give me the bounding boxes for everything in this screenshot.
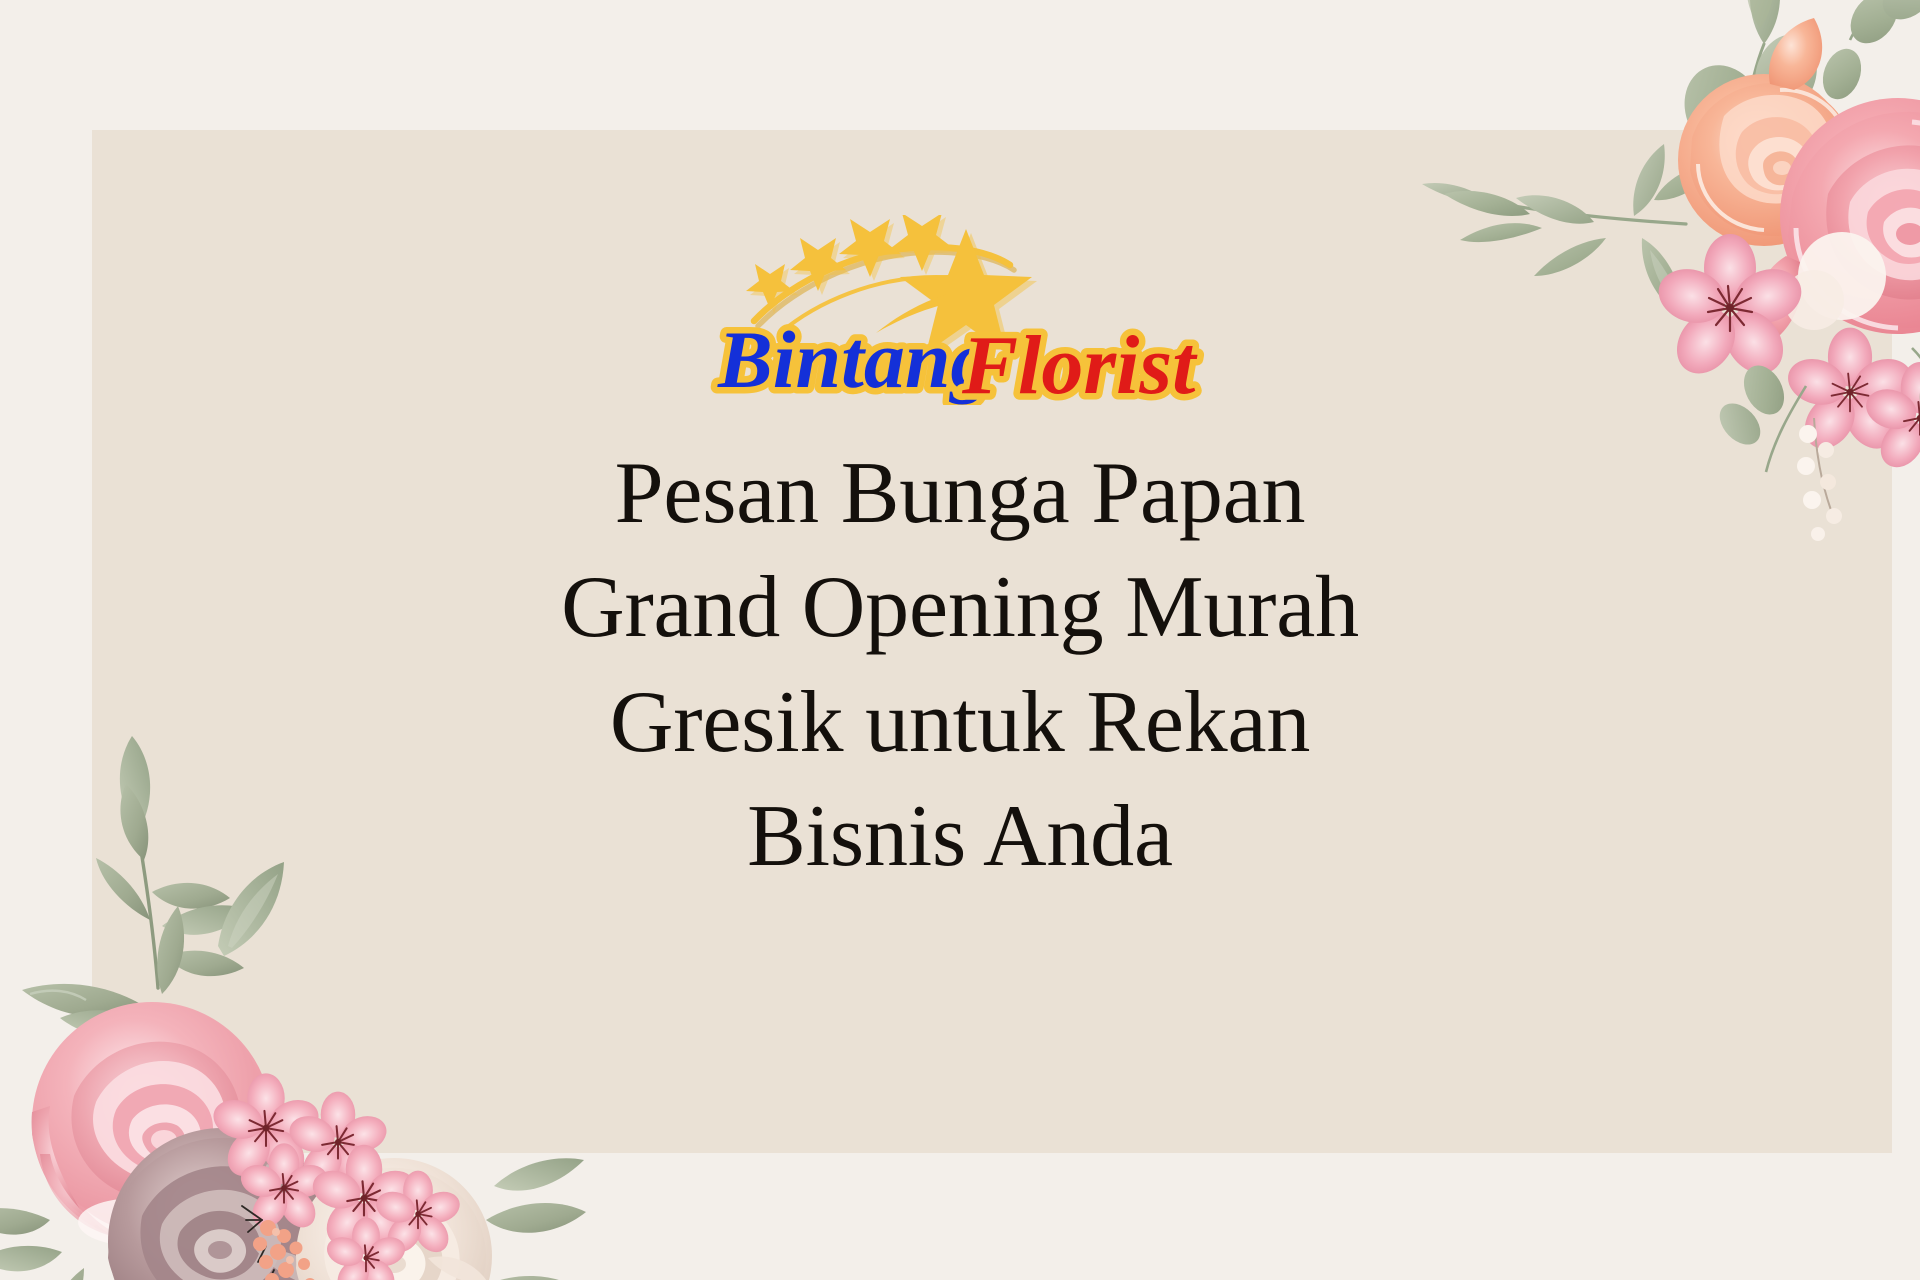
logo-word-florist: Florist bbox=[961, 319, 1198, 405]
cherry-blossom-6 bbox=[237, 1143, 332, 1234]
cherry-blossom-9 bbox=[323, 1217, 409, 1280]
cream-rose bbox=[296, 1158, 492, 1280]
leaf-cluster-right bbox=[462, 1158, 586, 1280]
eucalyptus-sprig-right bbox=[1816, 0, 1920, 105]
headline-line-4: Bisnis Anda bbox=[410, 780, 1510, 894]
cherry-blossom-8 bbox=[372, 1171, 464, 1259]
bintang-florist-logo[interactable]: Bintang Bintang Florist Florist bbox=[700, 215, 1220, 405]
cherry-blossom-7 bbox=[308, 1145, 420, 1253]
headline-line-3: Gresik untuk Rekan bbox=[410, 666, 1510, 780]
logo-star-1 bbox=[746, 264, 798, 313]
logo-star-3 bbox=[839, 219, 905, 281]
poster-canvas: Bintang Bintang Florist Florist Pesan Bu… bbox=[0, 0, 1920, 1280]
logo-wordmark: Bintang Bintang Florist Florist bbox=[717, 314, 1198, 405]
headline: Pesan Bunga Papan Grand Opening Murah Gr… bbox=[410, 437, 1510, 895]
coral-berry-spray bbox=[242, 1206, 322, 1280]
headline-line-2: Grand Opening Murah bbox=[410, 551, 1510, 665]
headline-line-1: Pesan Bunga Papan bbox=[410, 437, 1510, 551]
logo-word-bintang: Bintang bbox=[717, 314, 991, 405]
logo-star-4 bbox=[891, 215, 957, 275]
leaf-cluster-lower-left bbox=[0, 1208, 84, 1280]
